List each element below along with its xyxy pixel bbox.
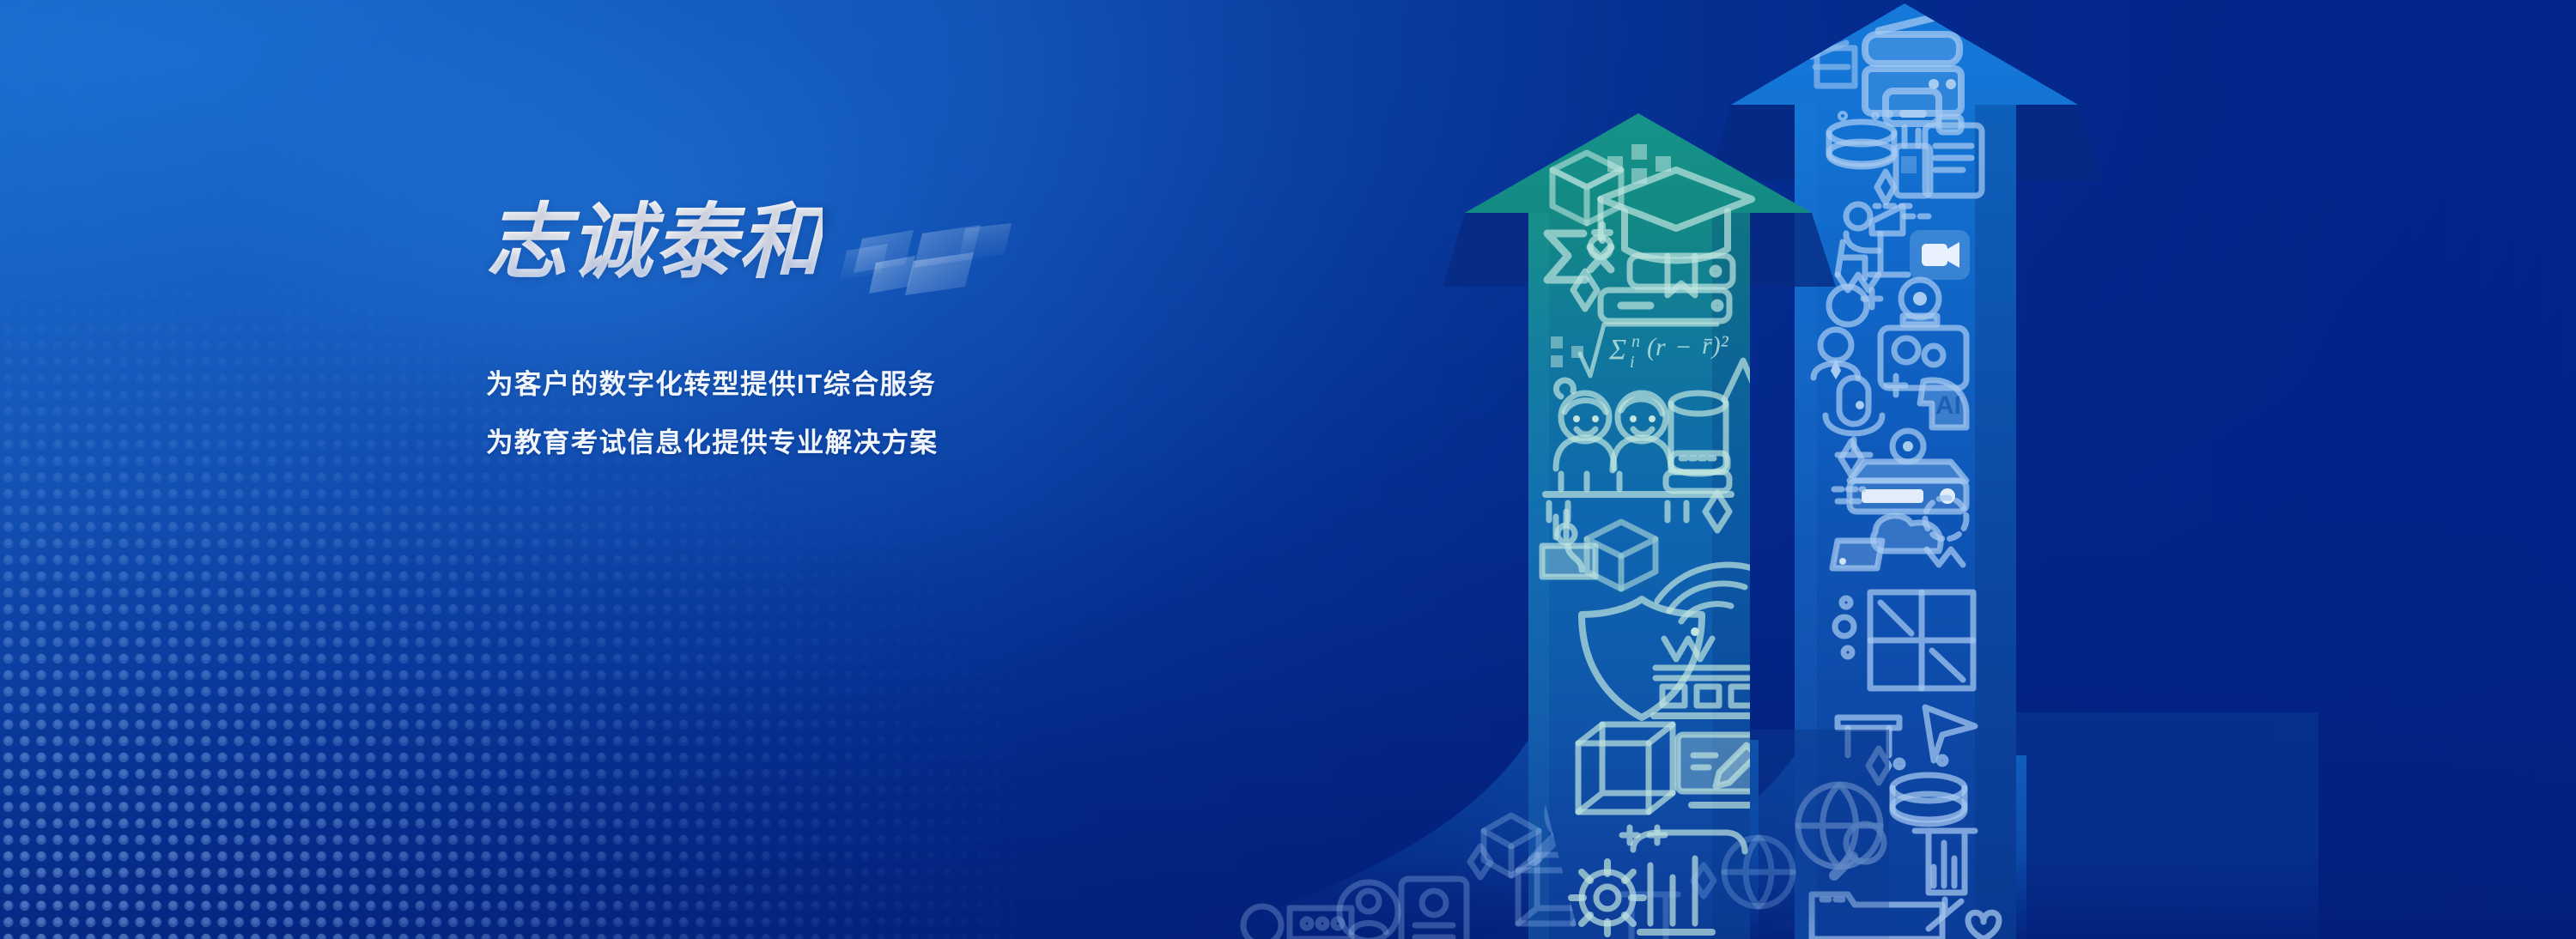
svg-text:−: − [1676,333,1691,361]
tagline-it-services: 为客户的数字化转型提供IT综合服务 [486,369,1156,398]
svg-text:r̄)²: r̄)² [1702,331,1729,360]
brand-title: 志诚泰和 [486,199,823,287]
printer-icon [1865,15,1961,124]
arrows-illustration: AI [0,0,2576,939]
svg-text:Σ: Σ [1608,334,1626,366]
parallelogram-logo-mark [840,223,1012,297]
tagline-education-solutions: 为教育考试信息化提供专业解决方案 [486,427,1156,457]
hero-text-block: 志诚泰和 [486,199,1156,457]
svg-text:(r: (r [1647,333,1666,361]
brand-row: 志诚泰和 [486,199,1156,306]
svg-text:i: i [1630,353,1635,372]
svg-text:n: n [1631,332,1640,351]
tagline-list: 为客户的数字化转型提供IT综合服务 为教育考试信息化提供专业解决方案 [486,369,1156,457]
video-camera-icon [1910,230,1970,280]
hero-banner: AI [0,0,2576,939]
svg-text:AI: AI [1935,391,1961,420]
